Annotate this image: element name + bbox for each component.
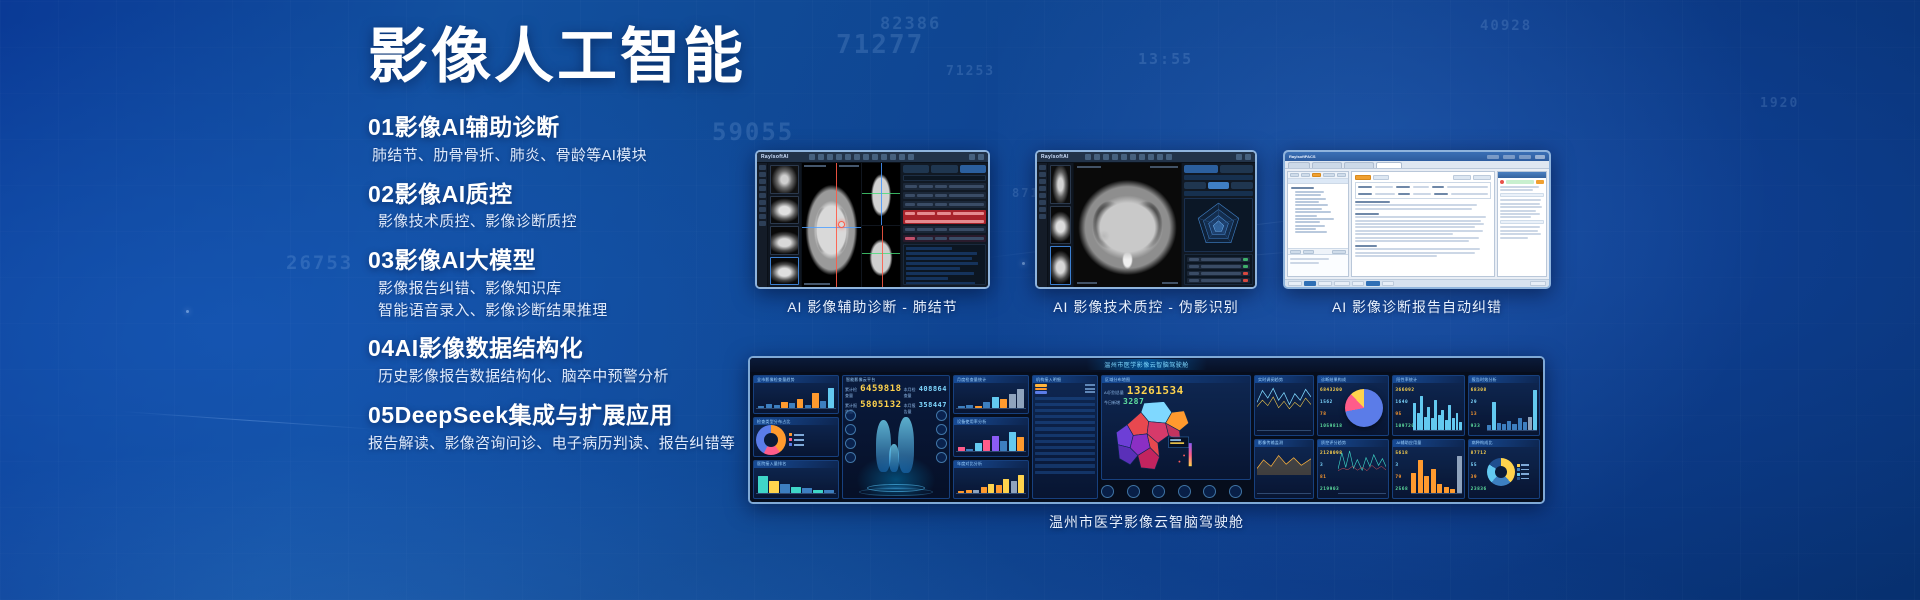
bar-chart — [1411, 451, 1461, 494]
bar-chart — [758, 387, 834, 408]
screenshot-ct-artifact[interactable]: RaylsoftAI — [1035, 150, 1257, 289]
app-logo: RaylsoftAI — [1041, 154, 1069, 160]
dashboard-title: 温州市医学影像云智脑驾驶舱 — [1086, 359, 1207, 370]
artifact-marker — [1098, 230, 1110, 242]
qc-result-list[interactable] — [1184, 254, 1253, 285]
dashboard-grid: 全市影像检查量趋势 — [750, 372, 1543, 502]
dashboard-column-2: 智能影像云平台 累计检查量 6459818 本月检查量 408864 — [842, 375, 950, 499]
card-content — [756, 426, 836, 453]
card-header: 区域分布地图 — [1102, 376, 1250, 383]
footer-button[interactable] — [1288, 281, 1302, 286]
ai-correction-popup[interactable] — [1497, 171, 1547, 277]
card-content[interactable] — [1035, 384, 1095, 496]
screenshot-report-wrapper: RaylsoftPACS — [1283, 150, 1551, 289]
tree-toolbar-button[interactable] — [1337, 173, 1346, 177]
dashboard-card[interactable]: 设备使用率分析 — [953, 417, 1029, 456]
bar — [1000, 441, 1007, 451]
dashboard-card[interactable]: 阳性率统计 366092 1640 95 109720 — [1392, 375, 1464, 436]
titlebar-button[interactable] — [1503, 155, 1515, 159]
card-header: 诊断结果构成 — [1318, 376, 1388, 383]
footer-nav-button[interactable] — [1152, 485, 1165, 498]
organ-button[interactable] — [845, 424, 856, 435]
table-row — [1035, 409, 1095, 412]
bar — [828, 388, 834, 408]
card-header: 质控评分趋势 — [1318, 440, 1388, 447]
qc-result-row[interactable] — [1187, 271, 1250, 276]
report-document-panel[interactable] — [1351, 171, 1495, 277]
organ-button[interactable] — [936, 438, 947, 449]
table-row — [1035, 471, 1095, 474]
table-row — [1035, 397, 1095, 400]
hologram-visual — [845, 406, 947, 496]
card-title: 区域分布地图 — [1105, 377, 1130, 383]
dashboard-column-7: 诊断结果构成 6843200 1562 78 1059818 — [1317, 375, 1540, 499]
pacs-tool-rail[interactable] — [757, 163, 768, 287]
tree-toolbar-button[interactable] — [1290, 173, 1299, 177]
organ-button[interactable] — [936, 452, 947, 463]
findings-header-row — [903, 183, 986, 190]
card-content — [756, 469, 836, 496]
dashboard-header: 温州市医学影像云智脑驾驶舱 — [750, 358, 1543, 372]
card-content — [1257, 384, 1311, 433]
dashboard-card-donut[interactable]: 病种构成比 87712 55 39 23836 — [1468, 439, 1540, 500]
pie-chart — [1345, 389, 1383, 427]
line-chart — [1338, 448, 1386, 472]
bar — [1018, 475, 1024, 493]
toolbar-icon[interactable] — [1139, 154, 1145, 160]
finding-row[interactable] — [903, 201, 986, 208]
toolbar-icon[interactable] — [1085, 154, 1091, 160]
titlebar-button[interactable] — [1487, 155, 1499, 159]
bar — [1003, 479, 1009, 493]
report-tree-panel[interactable] — [1287, 171, 1349, 277]
footer-nav-button[interactable] — [1229, 485, 1242, 498]
card-header: 病种构成比 — [1469, 440, 1539, 447]
report-tab[interactable] — [1344, 162, 1374, 168]
document-tab[interactable] — [1373, 175, 1389, 180]
donut-chart — [1487, 458, 1515, 486]
series-thumbnail[interactable] — [1050, 246, 1071, 285]
rail-tool-icon[interactable] — [759, 200, 766, 205]
grade-button[interactable] — [1184, 182, 1206, 189]
x-axis — [956, 451, 1026, 452]
qc-result-row[interactable] — [1187, 278, 1250, 283]
card-content: 87712 55 39 23836 — [1471, 448, 1537, 497]
x-axis — [756, 493, 836, 494]
dashboard-card[interactable]: AI辅助应用量 5618 3 79 2568 — [1392, 439, 1464, 500]
table-row — [1035, 440, 1095, 443]
panel-tab-active[interactable] — [1184, 165, 1218, 173]
toolbar-icon[interactable] — [863, 154, 869, 160]
kpi-label: AI识别总量 — [1104, 390, 1124, 396]
dashboard-card[interactable]: 全市影像检查量趋势 — [753, 375, 839, 414]
hologram-figure-child — [889, 444, 899, 472]
rail-tool-icon[interactable] — [759, 214, 766, 219]
finding-row[interactable] — [903, 226, 986, 233]
table-row — [1035, 427, 1095, 430]
feature-heading: 01影像AI辅助诊断 — [368, 113, 888, 142]
stats-column: 87712 55 39 23836 — [1471, 448, 1487, 497]
rail-tool-icon[interactable] — [1039, 193, 1046, 198]
series-thumbnail-list[interactable] — [1048, 163, 1074, 287]
dashboard-card-kpi[interactable]: 智能影像云平台 累计检查量 6459818 本月检查量 408864 — [842, 375, 950, 499]
toolbar-icon[interactable] — [890, 154, 896, 160]
card-header: AI辅助应用量 — [1393, 440, 1463, 447]
screenshot-report-correction[interactable]: RaylsoftPACS — [1283, 150, 1551, 289]
card-header: 阳性率统计 — [1393, 376, 1463, 383]
card-header: 设备使用率分析 — [954, 418, 1028, 425]
table-row — [1035, 421, 1095, 424]
series-thumbnail[interactable] — [770, 257, 799, 286]
card-header: 机构接入明细 — [1033, 376, 1097, 383]
pacs-toolbar[interactable]: RaylsoftAI — [757, 152, 988, 163]
series-thumbnail[interactable] — [770, 165, 799, 194]
series-thumbnail[interactable] — [1050, 206, 1071, 245]
bar — [1011, 481, 1017, 493]
alert-icon — [1500, 180, 1504, 184]
toolbar-icon[interactable] — [836, 154, 842, 160]
dashboard-column-5: 区域分布地图 AI识别总量 13261534 今日新增 3287 — [1101, 375, 1251, 499]
ai-findings-panel[interactable] — [900, 163, 988, 287]
footer-nav-button[interactable] — [1178, 485, 1191, 498]
organ-button[interactable] — [845, 410, 856, 421]
dashboard-wrapper: 温州市医学影像云智脑驾驶舱 全市影像检查量趋势 — [748, 356, 1545, 504]
toolbar-icon[interactable] — [854, 154, 860, 160]
panel-button[interactable] — [903, 165, 929, 173]
bg-number: 13:55 — [1138, 50, 1193, 68]
pacs-image-area[interactable] — [802, 163, 900, 287]
rail-tool-icon[interactable] — [1039, 172, 1046, 177]
toolbar-icon[interactable] — [872, 154, 878, 160]
card-content — [1257, 448, 1311, 497]
kpi-label: 本月检查量 — [904, 387, 917, 399]
toolbar-icon[interactable] — [809, 154, 815, 160]
toolbar-icon[interactable] — [1130, 154, 1136, 160]
panel-subheader — [1184, 191, 1253, 196]
tree-footer-button[interactable] — [1332, 250, 1346, 254]
donut-legend — [789, 433, 804, 446]
table-row — [1035, 415, 1095, 418]
series-thumbnail[interactable] — [770, 196, 799, 225]
card-content: 366092 1640 95 109720 — [1395, 384, 1461, 433]
screenshot-caption: AI 影像技术质控 - 伪影识别 — [1035, 297, 1257, 317]
radar-chart — [1184, 198, 1253, 252]
organ-button[interactable] — [936, 424, 947, 435]
card-title: 医院接入量排名 — [757, 461, 786, 467]
bar-chart — [1413, 387, 1461, 430]
dashboard-card[interactable]: 报告时效分析 68308 29 13 933 — [1468, 375, 1540, 436]
pacs-tool-rail[interactable] — [1037, 163, 1048, 287]
grade-button-selected[interactable] — [1208, 182, 1230, 189]
minimize-icon[interactable] — [1236, 154, 1242, 160]
document-tab-active[interactable] — [1355, 175, 1371, 180]
ct-axial-image[interactable] — [802, 163, 862, 287]
footer-button[interactable] — [1530, 281, 1546, 286]
bg-number: 1920 — [1760, 96, 1799, 111]
report-text-area[interactable] — [903, 244, 986, 285]
kpi-value: 13261534 — [1127, 384, 1184, 397]
rail-tool-icon[interactable] — [1039, 186, 1046, 191]
pacs-viewer: RaylsoftAI — [757, 152, 988, 287]
panel-button-active[interactable] — [960, 165, 986, 173]
panel-tab[interactable] — [1220, 165, 1254, 173]
footer-button[interactable] — [1334, 281, 1350, 286]
qc-result-row[interactable] — [1187, 257, 1250, 262]
organ-button[interactable] — [845, 452, 856, 463]
dashboard-card[interactable]: 检查类型分布占比 — [753, 417, 839, 456]
ct-axial-image[interactable] — [1074, 163, 1181, 287]
bar — [1000, 399, 1007, 408]
titlebar-button[interactable] — [1519, 155, 1531, 159]
card-content: 6843200 1562 78 1059818 — [1320, 384, 1386, 433]
table-row — [1035, 403, 1095, 406]
close-icon[interactable] — [1245, 154, 1251, 160]
area-chart — [1257, 448, 1311, 475]
toolbar-icon[interactable] — [818, 154, 824, 160]
card-header: 影像传输监测 — [1255, 440, 1313, 447]
bg-number: 40928 — [1480, 18, 1532, 34]
tree-toolbar-button[interactable] — [1301, 173, 1310, 177]
report-footer-toolbar[interactable] — [1285, 279, 1549, 287]
table-row — [1035, 446, 1095, 449]
card-header: 智能影像云平台 — [843, 376, 949, 383]
dashboard-screenshot[interactable]: 温州市医学影像云智脑驾驶舱 全市影像检查量趋势 — [748, 356, 1545, 504]
dashboard-card[interactable]: 年度对比分析 — [953, 460, 1029, 499]
toolbar-icon[interactable] — [881, 154, 887, 160]
tree-list[interactable] — [1288, 184, 1348, 248]
document-action-button[interactable] — [1473, 175, 1491, 180]
dashboard-card-line[interactable]: 质控评分趋势 2120098 3 81 219903 — [1317, 439, 1389, 500]
bar-chart — [958, 429, 1024, 450]
report-tab-active[interactable] — [1376, 162, 1402, 168]
bar — [812, 393, 818, 408]
bar — [992, 397, 999, 408]
kpi-value: 6459818 — [860, 384, 901, 394]
report-app: RaylsoftPACS — [1285, 152, 1549, 287]
footer-button[interactable] — [1352, 281, 1364, 286]
screenshot-ct-nodule-wrapper: RaylsoftAI — [755, 150, 990, 289]
tree-footer-button[interactable] — [1303, 250, 1314, 254]
card-content — [956, 426, 1026, 453]
minimize-icon[interactable] — [969, 154, 975, 160]
toolbar-icon[interactable] — [1148, 154, 1154, 160]
footer-button[interactable] — [1318, 281, 1332, 286]
organ-button[interactable] — [845, 438, 856, 449]
dashboard-card-map[interactable]: 区域分布地图 AI识别总量 13261534 今日新增 3287 — [1101, 375, 1251, 480]
bar — [781, 402, 787, 409]
toolbar-icon[interactable] — [1103, 154, 1109, 160]
report-tab[interactable] — [1312, 162, 1342, 168]
table-row — [1035, 458, 1095, 461]
tree-footer-button[interactable] — [1290, 250, 1301, 254]
bar — [983, 440, 990, 451]
suggestion-accept-chip[interactable] — [1506, 180, 1534, 184]
stats-column: 5618 3 79 2568 — [1395, 448, 1411, 497]
footer-nav-button[interactable] — [1203, 485, 1216, 498]
rail-tool-icon[interactable] — [759, 172, 766, 177]
card-title: 设备使用率分析 — [957, 419, 986, 425]
card-title: 年度对比分析 — [957, 461, 982, 467]
card-content: AI识别总量 13261534 今日新增 3287 — [1104, 384, 1248, 477]
document-action-button[interactable] — [1453, 175, 1471, 180]
qc-result-row[interactable] — [1187, 264, 1250, 269]
table-row — [1035, 434, 1095, 437]
footer-button[interactable] — [1382, 281, 1394, 286]
card-content: 68308 29 13 933 — [1471, 384, 1537, 433]
toolbar-icon[interactable] — [1166, 154, 1172, 160]
dashboard-card-line[interactable]: 影像传输监测 — [1254, 439, 1314, 500]
screenshot-ct-nodule[interactable]: RaylsoftAI — [755, 150, 990, 289]
bar — [1009, 394, 1016, 409]
grade-button[interactable] — [1231, 182, 1253, 189]
pacs-viewer: RaylsoftAI — [1037, 152, 1255, 287]
series-thumbnail[interactable] — [770, 226, 799, 255]
toolbar-icon[interactable] — [899, 154, 905, 160]
rail-tool-icon[interactable] — [759, 193, 766, 198]
card-content: 2120098 3 81 219903 — [1320, 448, 1386, 497]
bar-chart — [1487, 387, 1537, 430]
report-titlebar[interactable]: RaylsoftPACS — [1285, 152, 1549, 161]
banner-root: 82386 71277 59055 13:55 26753 71253 8711… — [0, 0, 1920, 600]
rail-tool-icon[interactable] — [759, 179, 766, 184]
finding-row-highlighted[interactable] — [903, 210, 986, 224]
footer-button-primary[interactable] — [1304, 281, 1316, 286]
card-title: 全市影像检查量趋势 — [757, 377, 795, 383]
ct-coronal-image[interactable] — [862, 163, 900, 226]
rail-tool-icon[interactable] — [1039, 207, 1046, 212]
hologram-base-ring — [859, 488, 932, 496]
panel-button[interactable] — [931, 165, 957, 173]
hologram-right-buttons[interactable] — [936, 410, 947, 463]
card-header: 月度检查量统计 — [954, 376, 1028, 383]
series-thumbnail[interactable] — [1050, 165, 1071, 204]
region-map — [1104, 400, 1196, 477]
x-axis — [956, 408, 1026, 409]
donut-legend — [1517, 464, 1530, 481]
series-thumbnail-list[interactable] — [768, 163, 802, 287]
ct-sagittal-image[interactable] — [862, 226, 900, 288]
card-title: 阳性率统计 — [1396, 377, 1417, 383]
bar — [1017, 437, 1024, 450]
bg-number: 71253 — [946, 64, 995, 79]
app-logo: RaylsoftAI — [761, 154, 789, 160]
tree-toolbar-button[interactable] — [1323, 173, 1335, 177]
bar — [992, 436, 999, 451]
card-header: 检查类型分布占比 — [754, 418, 838, 425]
line-chart — [1257, 384, 1311, 411]
bar — [988, 484, 994, 493]
toolbar-icon[interactable] — [908, 154, 914, 160]
card-content — [956, 384, 1026, 411]
x-axis — [1257, 430, 1311, 431]
bar — [797, 399, 803, 408]
pacs-body — [757, 163, 988, 287]
background-dot — [186, 310, 189, 313]
toolbar-icon[interactable] — [1157, 154, 1163, 160]
toolbar-icon[interactable] — [845, 154, 851, 160]
card-header: 全市影像检查量趋势 — [754, 376, 838, 383]
dashboard-card[interactable]: 月度检查量统计 — [953, 375, 1029, 414]
stats-column: 68308 29 13 933 — [1471, 384, 1487, 433]
dashboard-card-table[interactable]: 机构接入明细 — [1032, 375, 1098, 499]
findings-search-input[interactable] — [903, 175, 986, 181]
rail-tool-icon[interactable] — [1039, 179, 1046, 184]
dashboard-caption: 温州市医学影像云智脑驾驶舱 — [748, 512, 1545, 532]
stats-column: 366092 1640 95 109720 — [1395, 384, 1413, 433]
x-axis — [1487, 430, 1537, 431]
toolbar-icon[interactable] — [1112, 154, 1118, 160]
bar-chart — [958, 472, 1024, 493]
bar — [1017, 389, 1024, 408]
close-icon[interactable] — [1535, 155, 1545, 159]
toolbar-icon[interactable] — [1094, 154, 1100, 160]
report-tab[interactable] — [1288, 162, 1310, 168]
screenshot-caption: AI 影像诊断报告自动纠错 — [1283, 297, 1551, 317]
x-axis — [1257, 493, 1311, 494]
bar — [820, 401, 826, 409]
bar — [769, 481, 779, 493]
rail-tool-icon[interactable] — [759, 207, 766, 212]
rail-tool-icon[interactable] — [759, 221, 766, 226]
footer-nav-button[interactable] — [1127, 485, 1140, 498]
toolbar-icon[interactable] — [827, 154, 833, 160]
card-title: 智能影像云平台 — [846, 377, 875, 383]
app-logo: RaylsoftPACS — [1289, 154, 1316, 159]
quality-control-panel[interactable] — [1181, 163, 1255, 287]
dashboard-card-pie[interactable]: 诊断结果构成 6843200 1562 78 1059818 — [1317, 375, 1389, 436]
bar-chart — [758, 472, 834, 493]
stats-column: 2120098 3 81 219903 — [1320, 448, 1338, 497]
x-axis — [1411, 493, 1461, 494]
dashboard-footer-buttons[interactable] — [1101, 483, 1251, 499]
finding-row[interactable] — [903, 192, 986, 199]
bar — [975, 443, 982, 450]
rail-tool-icon[interactable] — [759, 186, 766, 191]
card-content — [956, 469, 1026, 496]
hologram-left-buttons[interactable] — [845, 410, 856, 463]
card-title: 实时调阅趋势 — [1258, 377, 1283, 383]
patient-info-grid — [1355, 182, 1491, 199]
dashboard-card-line[interactable]: 实时调阅趋势 — [1254, 375, 1314, 436]
dashboard-card[interactable]: 医院接入量排名 — [753, 460, 839, 499]
donut-chart — [756, 425, 786, 455]
footer-button-primary[interactable] — [1366, 281, 1380, 286]
card-header: 报告时效分析 — [1469, 376, 1539, 383]
card-title: 机构接入明细 — [1036, 377, 1061, 383]
rail-tool-icon[interactable] — [1039, 200, 1046, 205]
rail-tool-icon[interactable] — [1039, 214, 1046, 219]
close-icon[interactable] — [978, 154, 984, 160]
pacs-image-area[interactable] — [1074, 163, 1181, 287]
page-title: 影像人工智能 — [368, 22, 888, 91]
footer-nav-button[interactable] — [1101, 485, 1114, 498]
pacs-body — [1037, 163, 1255, 287]
finding-row[interactable] — [903, 235, 986, 242]
tree-detail-box — [1288, 254, 1348, 276]
table-rows[interactable] — [1035, 397, 1095, 476]
pacs-toolbar[interactable]: RaylsoftAI — [1037, 152, 1255, 163]
rail-tool-icon[interactable] — [1039, 165, 1046, 170]
bar-chart — [958, 387, 1024, 408]
bg-number: 26753 — [286, 252, 353, 274]
tree-toolbar-button-highlight[interactable] — [1312, 173, 1321, 177]
organ-button[interactable] — [936, 410, 947, 421]
rail-tool-icon[interactable] — [759, 165, 766, 170]
report-tabbar[interactable] — [1285, 161, 1549, 169]
card-header: 实时调阅趋势 — [1255, 376, 1313, 383]
toolbar-icon[interactable] — [1121, 154, 1127, 160]
suggestion-action-chip[interactable] — [1536, 180, 1544, 184]
